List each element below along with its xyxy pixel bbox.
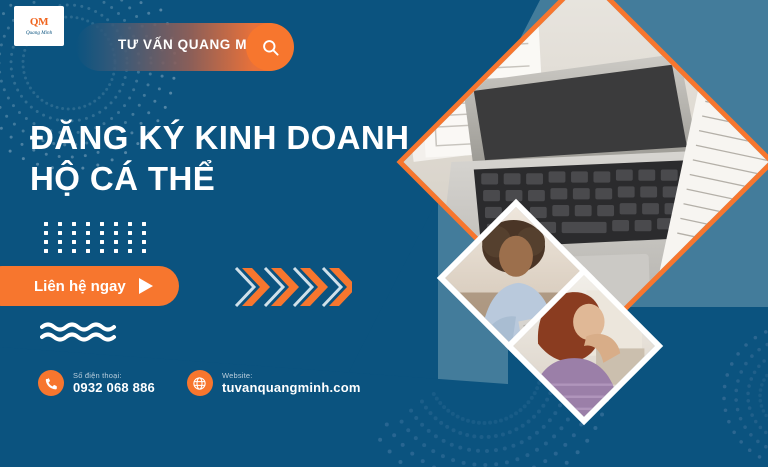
phone-label: Số điện thoại: [73,371,155,380]
dot-grid-cell [86,249,90,253]
wave-lines-icon [40,320,124,342]
dot-grid-cell [72,222,76,226]
dot-grid-cell [114,240,118,244]
dot-grid-cell [44,249,48,253]
double-chevron-right-icon [232,264,352,310]
dot-grid-cell [86,240,90,244]
dot-grid-cell [142,222,146,226]
dot-grid-cell [128,222,132,226]
contact-cta-button[interactable]: Liên hệ ngay [0,266,179,306]
dot-grid-cell [100,231,104,235]
play-arrow-icon [139,278,153,294]
dot-grid-cell [114,249,118,253]
contact-cta-label: Liên hệ ngay [34,278,126,295]
contact-phone[interactable]: Số điện thoại: 0932 068 886 [38,370,155,396]
dot-grid-cell [44,222,48,226]
dot-grid-cell [44,240,48,244]
dot-grid-cell [58,231,62,235]
dot-grid-cell [142,249,146,253]
website-value: tuvanquangminh.com [222,380,361,396]
dot-grid-cell [114,222,118,226]
website-label: Website: [222,371,361,380]
dot-grid-cell [100,249,104,253]
banner-root: 1120 [0,0,768,467]
dot-grid-cell [72,249,76,253]
dot-grid-cell [100,240,104,244]
dot-grid-cell [142,231,146,235]
quang-minh-logo[interactable]: QM Quang Minh [14,6,64,46]
dot-grid-cell [114,231,118,235]
dot-grid-cell [100,222,104,226]
search-button[interactable] [246,23,294,71]
phone-value: 0932 068 886 [73,380,155,396]
dot-grid-cell [58,249,62,253]
logo-script: Quang Minh [26,30,52,36]
page-title: ĐĂNG KÝ KINH DOANH HỘ CÁ THỂ [30,118,409,200]
headline-line-1: ĐĂNG KÝ KINH DOANH [30,119,409,156]
dot-grid-cell [44,231,48,235]
dot-grid-cell [72,231,76,235]
contact-info-row: Số điện thoại: 0932 068 886 Website: tuv… [38,370,361,396]
dot-grid-cell [142,240,146,244]
contact-website[interactable]: Website: tuvanquangminh.com [187,370,361,396]
dot-grid-decoration [44,222,156,258]
globe-icon [187,370,213,396]
dot-grid-cell [128,240,132,244]
dot-grid-cell [58,222,62,226]
dot-grid-cell [86,222,90,226]
dot-grid-cell [128,249,132,253]
search-icon [261,38,280,57]
search-pill[interactable]: TƯ VẤN QUANG MINH [76,23,292,71]
dot-grid-cell [128,231,132,235]
phone-icon [38,370,64,396]
dot-grid-cell [86,231,90,235]
dot-grid-cell [72,240,76,244]
logo-mark: QM [30,17,48,28]
headline-line-2: HỘ CÁ THỂ [30,159,409,200]
dot-grid-cell [58,240,62,244]
